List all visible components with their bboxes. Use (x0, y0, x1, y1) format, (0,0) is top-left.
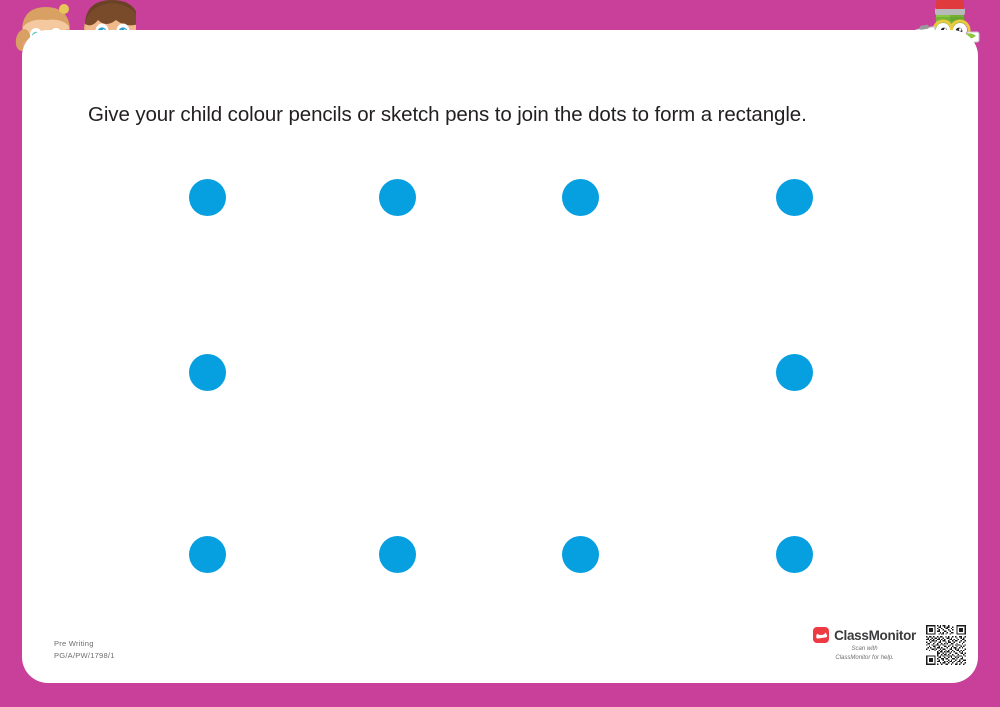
worksheet-page: Give your child colour pencils or sketch… (0, 0, 1000, 707)
dot-r2-c1[interactable] (189, 354, 226, 391)
instruction-text: Give your child colour pencils or sketch… (88, 102, 908, 128)
footer-code: PG/A/PW/1798/1 (54, 650, 115, 661)
classmonitor-swoosh-icon (813, 627, 829, 643)
scan-help-line2: ClassMonitor for help. (835, 654, 893, 663)
footer-subject: Pre Writing (54, 638, 115, 649)
classmonitor-branding: ClassMonitor Scan with ClassMonitor for … (813, 627, 916, 662)
dot-r3-c1[interactable] (189, 536, 226, 573)
dot-r1-c1[interactable] (189, 179, 226, 216)
footer-meta: Pre Writing PG/A/PW/1798/1 (54, 638, 115, 661)
worksheet-card: Give your child colour pencils or sketch… (22, 30, 978, 683)
footer-brand: ClassMonitor Scan with ClassMonitor for … (813, 625, 966, 665)
dot-r1-c4[interactable] (776, 179, 813, 216)
dot-r3-c4[interactable] (776, 536, 813, 573)
dot-r1-c3[interactable] (562, 179, 599, 216)
dot-r1-c2[interactable] (379, 179, 416, 216)
dot-r3-c2[interactable] (379, 536, 416, 573)
qr-code[interactable] (926, 625, 966, 665)
classmonitor-logo: ClassMonitor (813, 627, 916, 643)
scan-help-line1: Scan with (835, 645, 893, 654)
scan-help-text: Scan with ClassMonitor for help. (835, 645, 893, 662)
dot-r2-c4[interactable] (776, 354, 813, 391)
dot-r3-c3[interactable] (562, 536, 599, 573)
classmonitor-wordmark: ClassMonitor (834, 628, 916, 643)
